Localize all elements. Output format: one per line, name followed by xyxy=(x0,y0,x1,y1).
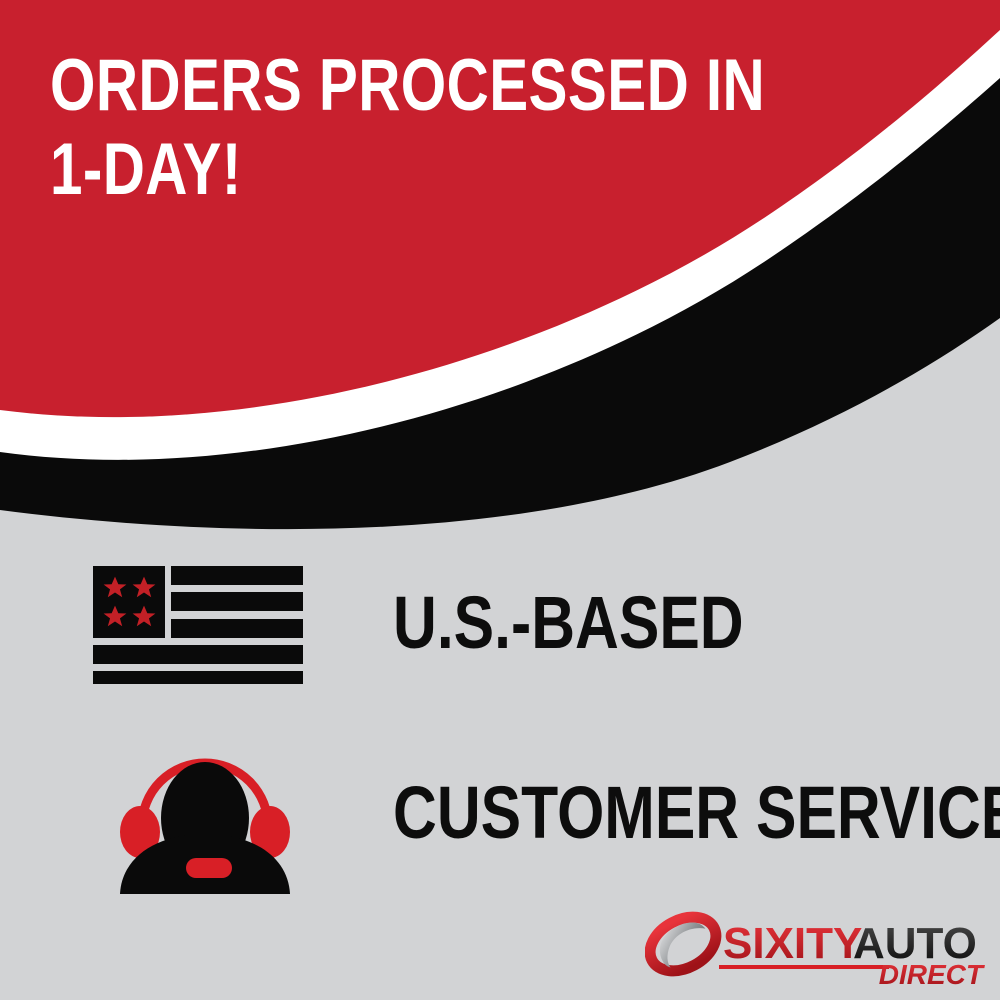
ring-swoosh-icon xyxy=(645,908,725,982)
headline-line-2: 1-DAY! xyxy=(50,128,682,212)
feature-label-customer-service: CUSTOMER SERVICE xyxy=(393,776,1000,850)
page-title: ORDERS PROCESSED IN 1-DAY! xyxy=(50,44,682,212)
flag-canton xyxy=(93,566,165,638)
sixity-auto-direct-logo: SIXITY AUTO DIRECT xyxy=(645,908,985,990)
promo-banner: ORDERS PROCESSED IN 1-DAY! U.S.-BASED xyxy=(0,0,1000,1000)
flag-full-stripes xyxy=(93,645,303,684)
logo-divider-rule xyxy=(719,965,889,969)
us-flag-icon xyxy=(93,566,303,684)
flag-short-stripes xyxy=(171,566,303,638)
logo-text-sixity: SIXITY xyxy=(723,919,862,968)
headset-microphone xyxy=(186,858,232,878)
headset-support-icon xyxy=(112,722,298,894)
headline-line-1: ORDERS PROCESSED IN xyxy=(50,44,682,128)
feature-label-us-based: U.S.-BASED xyxy=(393,586,744,660)
logo-text-direct: DIRECT xyxy=(879,959,985,990)
